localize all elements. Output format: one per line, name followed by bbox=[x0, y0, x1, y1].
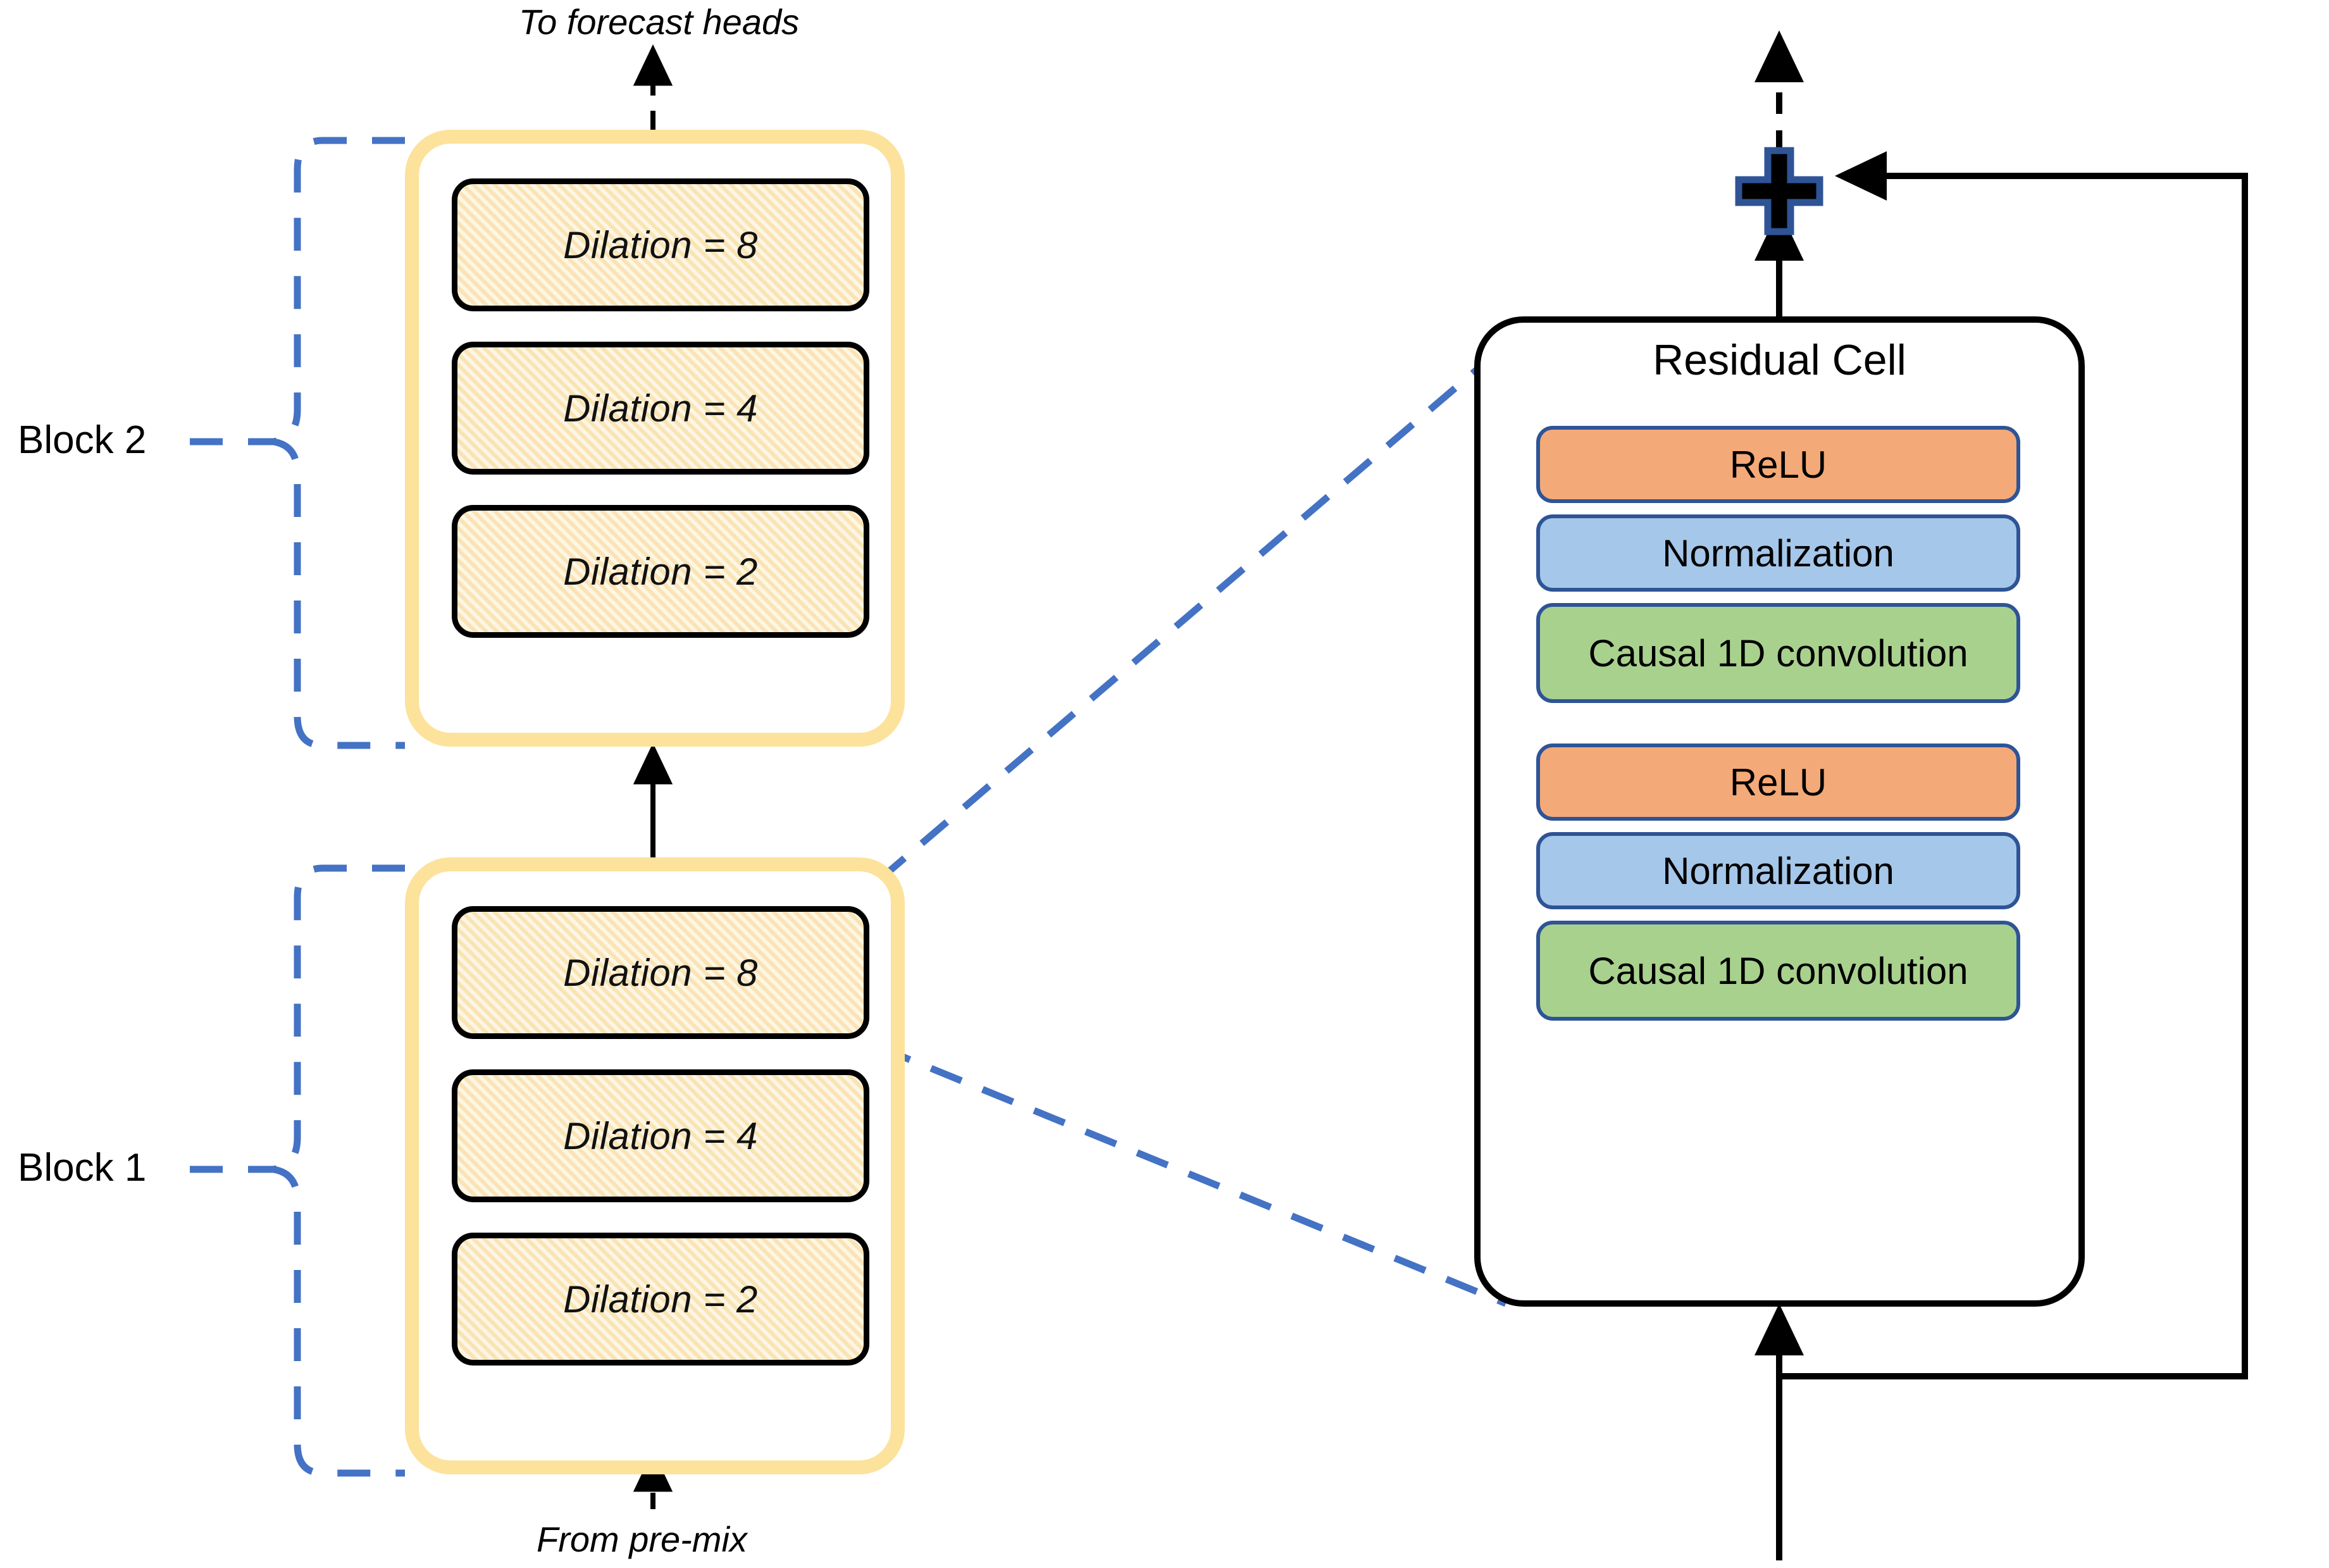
layer-label: Causal 1D convolution bbox=[1588, 632, 1968, 675]
dilation-label: Dilation = 2 bbox=[563, 550, 758, 594]
callout-line-upper bbox=[879, 345, 1506, 880]
residual-layer-relu-2[interactable]: ReLU bbox=[1536, 744, 2020, 821]
dilation-label: Dilation = 4 bbox=[563, 1114, 758, 1158]
layer-label: ReLU bbox=[1730, 761, 1827, 804]
dilation-label: Dilation = 8 bbox=[563, 223, 758, 267]
diagram-canvas: To forecast heads From pre-mix Block 2 D… bbox=[0, 0, 2329, 1568]
dilation-label: Dilation = 8 bbox=[563, 951, 758, 995]
block-label-2: Block 2 bbox=[18, 418, 146, 463]
dilation-box-b2-4[interactable]: Dilation = 4 bbox=[452, 342, 869, 475]
residual-layer-normalization-1[interactable]: Normalization bbox=[1536, 514, 2020, 592]
dilation-box-b1-4[interactable]: Dilation = 4 bbox=[452, 1069, 869, 1202]
add-operator[interactable] bbox=[1735, 147, 1823, 235]
callout-line-lower bbox=[879, 1047, 1506, 1304]
caption-from-pre-mix: From pre-mix bbox=[537, 1519, 747, 1560]
layer-label: Normalization bbox=[1662, 532, 1894, 575]
dilation-box-b1-8[interactable]: Dilation = 8 bbox=[452, 906, 869, 1039]
dilation-box-b2-2[interactable]: Dilation = 2 bbox=[452, 505, 869, 638]
residual-layer-causal-conv-2[interactable]: Causal 1D convolution bbox=[1536, 921, 2020, 1021]
residual-layer-causal-conv-1[interactable]: Causal 1D convolution bbox=[1536, 603, 2020, 703]
residual-layer-relu-1[interactable]: ReLU bbox=[1536, 426, 2020, 503]
brace-block-1 bbox=[273, 868, 405, 1473]
dilation-label: Dilation = 4 bbox=[563, 387, 758, 430]
block-container-1: Dilation = 8 Dilation = 4 Dilation = 2 bbox=[405, 857, 905, 1474]
residual-layer-normalization-2[interactable]: Normalization bbox=[1536, 832, 2020, 909]
dilation-box-b1-2[interactable]: Dilation = 2 bbox=[452, 1233, 869, 1366]
block-label-1: Block 1 bbox=[18, 1145, 146, 1190]
plus-icon bbox=[1735, 147, 1823, 235]
layer-label: Normalization bbox=[1662, 849, 1894, 893]
caption-to-forecast-heads: To forecast heads bbox=[519, 1, 799, 42]
layer-label: Causal 1D convolution bbox=[1588, 949, 1968, 993]
layer-label: ReLU bbox=[1730, 443, 1827, 487]
residual-cell-title: Residual Cell bbox=[1474, 335, 2085, 385]
brace-block-2 bbox=[273, 140, 405, 745]
dilation-label: Dilation = 2 bbox=[563, 1278, 758, 1321]
block-container-2: Dilation = 8 Dilation = 4 Dilation = 2 bbox=[405, 130, 905, 747]
dilation-box-b2-8[interactable]: Dilation = 8 bbox=[452, 178, 869, 311]
